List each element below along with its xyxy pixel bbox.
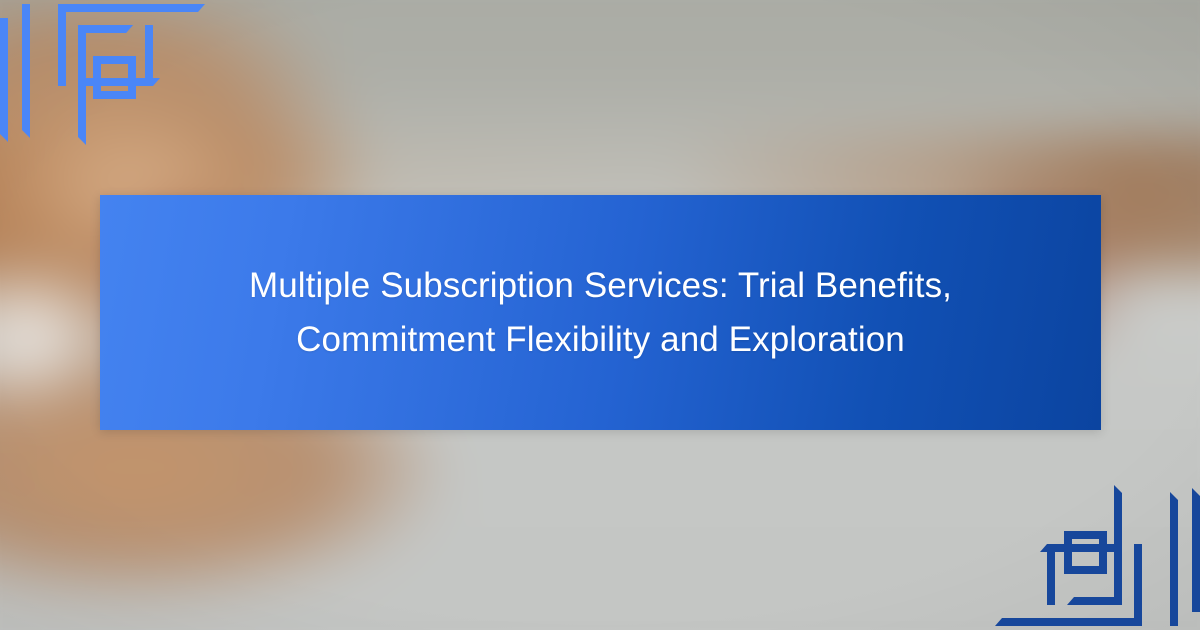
social-share-card: Multiple Subscription Services: Trial Be… [0,0,1200,630]
title-banner: Multiple Subscription Services: Trial Be… [100,195,1101,430]
page-title: Multiple Subscription Services: Trial Be… [160,259,1042,365]
